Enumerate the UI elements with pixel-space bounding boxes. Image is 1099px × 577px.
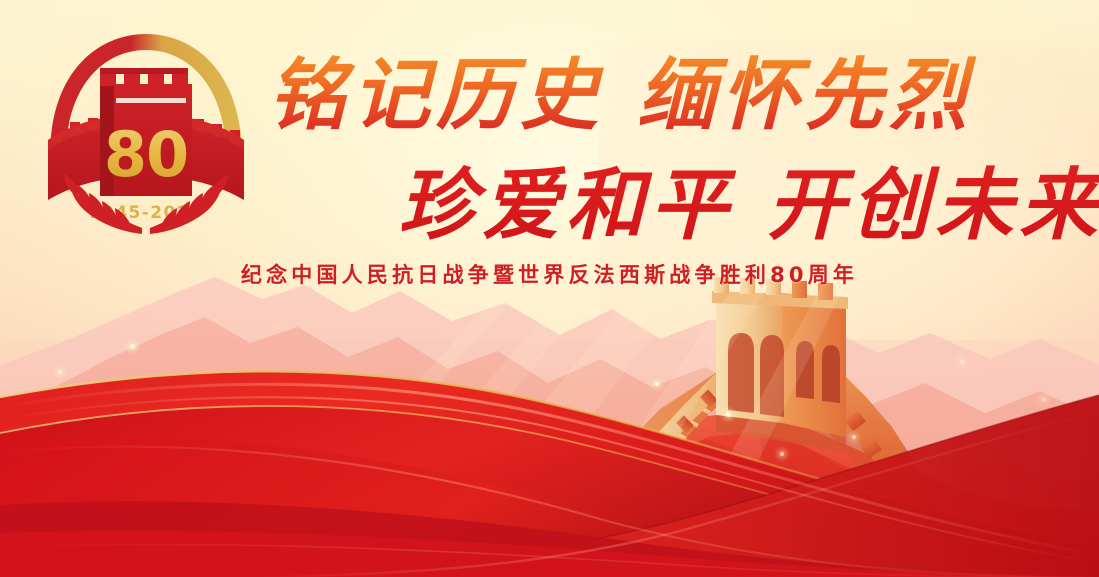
- title-text-line-2: 珍爱和平 开创未来: [398, 160, 1099, 251]
- anniversary-emblem: 80 1945-2025: [38, 28, 254, 240]
- title-line-1: 铭记历史 缅怀先烈: [268, 48, 928, 148]
- emblem-number: 80: [104, 118, 188, 191]
- red-silk-ribbon-wave: [0, 247, 1099, 577]
- commemorative-poster: 80 1945-2025: [0, 0, 1099, 577]
- subtitle-text: 纪念中国人民抗日战争暨世界反法西斯战争胜利80周年: [0, 259, 1099, 289]
- title-text-line-1: 铭记历史 缅怀先烈: [268, 50, 977, 141]
- title-line-2: 珍爱和平 开创未来: [398, 158, 1053, 258]
